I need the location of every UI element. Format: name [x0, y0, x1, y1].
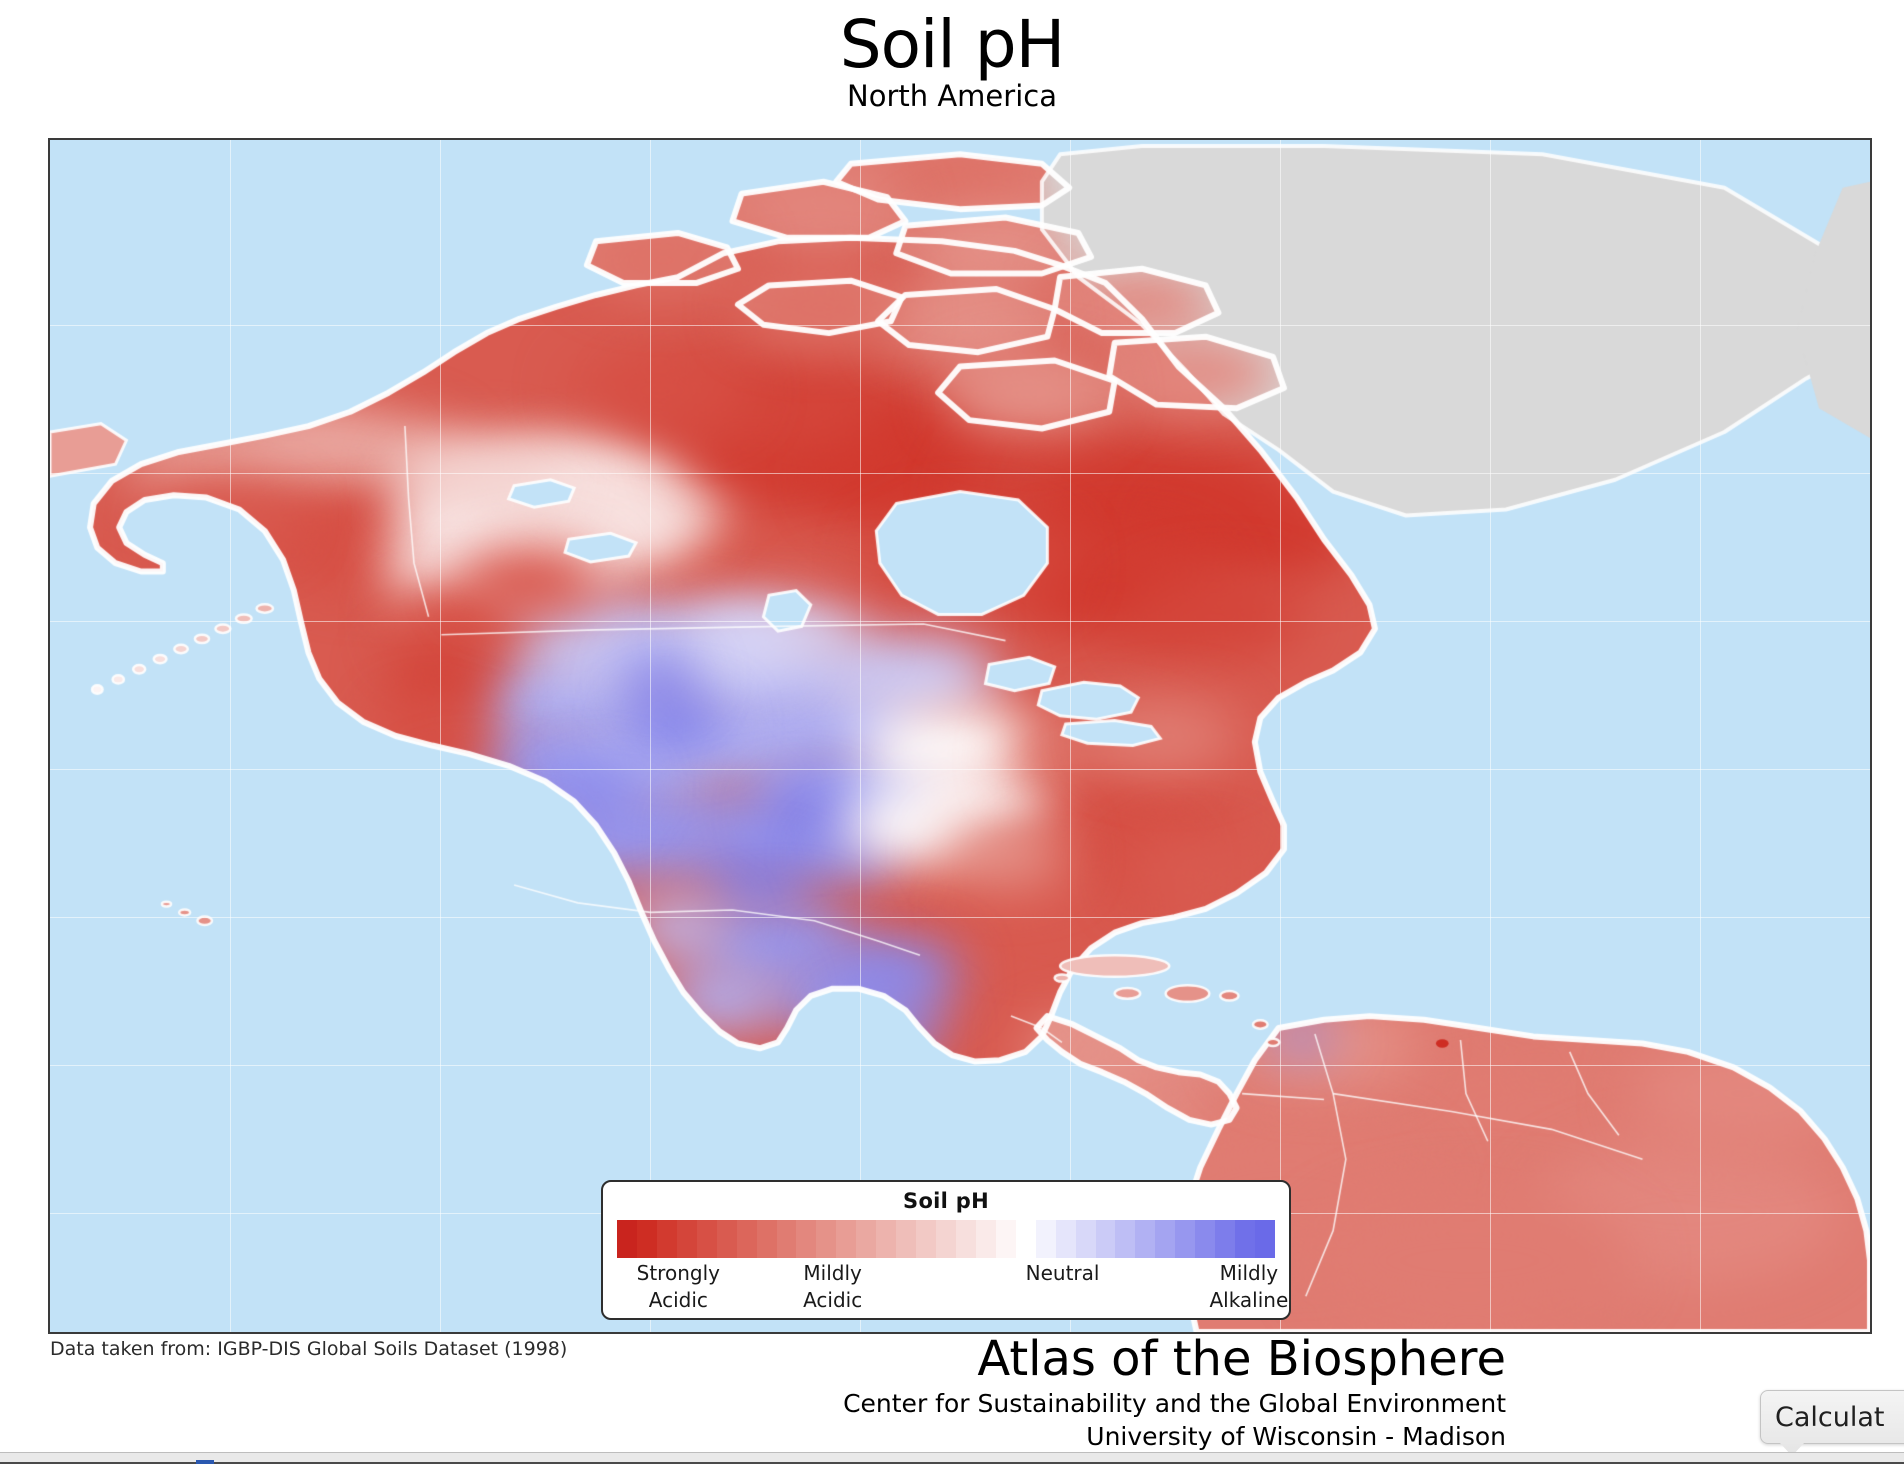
legend-label: MildlyAlkaline	[1209, 1260, 1288, 1314]
taskbar-active-item[interactable]	[196, 1460, 214, 1464]
legend-title: Soil pH	[617, 1188, 1275, 1214]
legend-swatch	[856, 1220, 876, 1258]
legend-swatch	[1036, 1220, 1056, 1258]
legend-swatch	[796, 1220, 816, 1258]
legend-labels: StronglyAcidicMildlyAcidicNeutralMildlyA…	[617, 1260, 1275, 1318]
legend-swatch	[996, 1220, 1016, 1258]
legend-swatch	[697, 1220, 717, 1258]
calculating-tooltip: Calculat	[1760, 1390, 1904, 1444]
legend-panel: Soil pH StronglyAcidicMildlyAcidicNeutra…	[601, 1180, 1291, 1320]
soil-ph-choropleth-map[interactable]	[50, 140, 1870, 1332]
taskbar-strip[interactable]	[0, 1452, 1904, 1464]
legend-swatch	[777, 1220, 797, 1258]
legend-swatch	[1215, 1220, 1235, 1258]
legend-swatch	[737, 1220, 757, 1258]
legend-swatch	[1135, 1220, 1155, 1258]
legend-swatch	[976, 1220, 996, 1258]
brand-title: Atlas of the Biosphere	[606, 1331, 1506, 1387]
map-frame[interactable]	[48, 138, 1872, 1334]
legend-swatch	[1255, 1220, 1275, 1258]
legend-swatch	[1056, 1220, 1076, 1258]
legend-swatch	[637, 1220, 657, 1258]
legend-swatch	[956, 1220, 976, 1258]
legend-swatch	[1235, 1220, 1255, 1258]
legend-swatch	[657, 1220, 677, 1258]
legend-label: StronglyAcidic	[637, 1260, 720, 1314]
legend-swatch	[677, 1220, 697, 1258]
brand-university: University of Wisconsin - Madison	[606, 1420, 1506, 1453]
legend-label: Neutral	[1026, 1260, 1100, 1287]
legend-color-ramp	[617, 1220, 1275, 1258]
legend-swatch	[936, 1220, 956, 1258]
legend-swatch	[916, 1220, 936, 1258]
legend-swatch	[1115, 1220, 1135, 1258]
legend-swatch	[1076, 1220, 1096, 1258]
legend-swatch	[1175, 1220, 1195, 1258]
legend-swatch	[876, 1220, 896, 1258]
legend-swatch	[836, 1220, 856, 1258]
legend-swatch	[757, 1220, 777, 1258]
tooltip-label: Calculat	[1775, 1402, 1885, 1433]
legend-swatch	[896, 1220, 916, 1258]
map-page: Soil pH North America Soil pH StronglyAc…	[0, 0, 1904, 1464]
page-title: Soil pH	[0, 8, 1904, 82]
legend-swatch	[617, 1220, 637, 1258]
title-block: Soil pH North America	[0, 8, 1904, 114]
legend-swatch	[1195, 1220, 1215, 1258]
legend-label: MildlyAcidic	[803, 1260, 862, 1314]
source-note: Data taken from: IGBP-DIS Global Soils D…	[50, 1337, 567, 1361]
legend-swatch	[717, 1220, 737, 1258]
legend-swatch	[1155, 1220, 1175, 1258]
legend-swatch	[816, 1220, 836, 1258]
legend-swatch	[1016, 1220, 1036, 1258]
brand-block: Atlas of the Biosphere Center for Sustai…	[606, 1331, 1506, 1453]
page-subtitle: North America	[0, 78, 1904, 114]
brand-organization: Center for Sustainability and the Global…	[606, 1387, 1506, 1420]
legend-swatch	[1096, 1220, 1116, 1258]
